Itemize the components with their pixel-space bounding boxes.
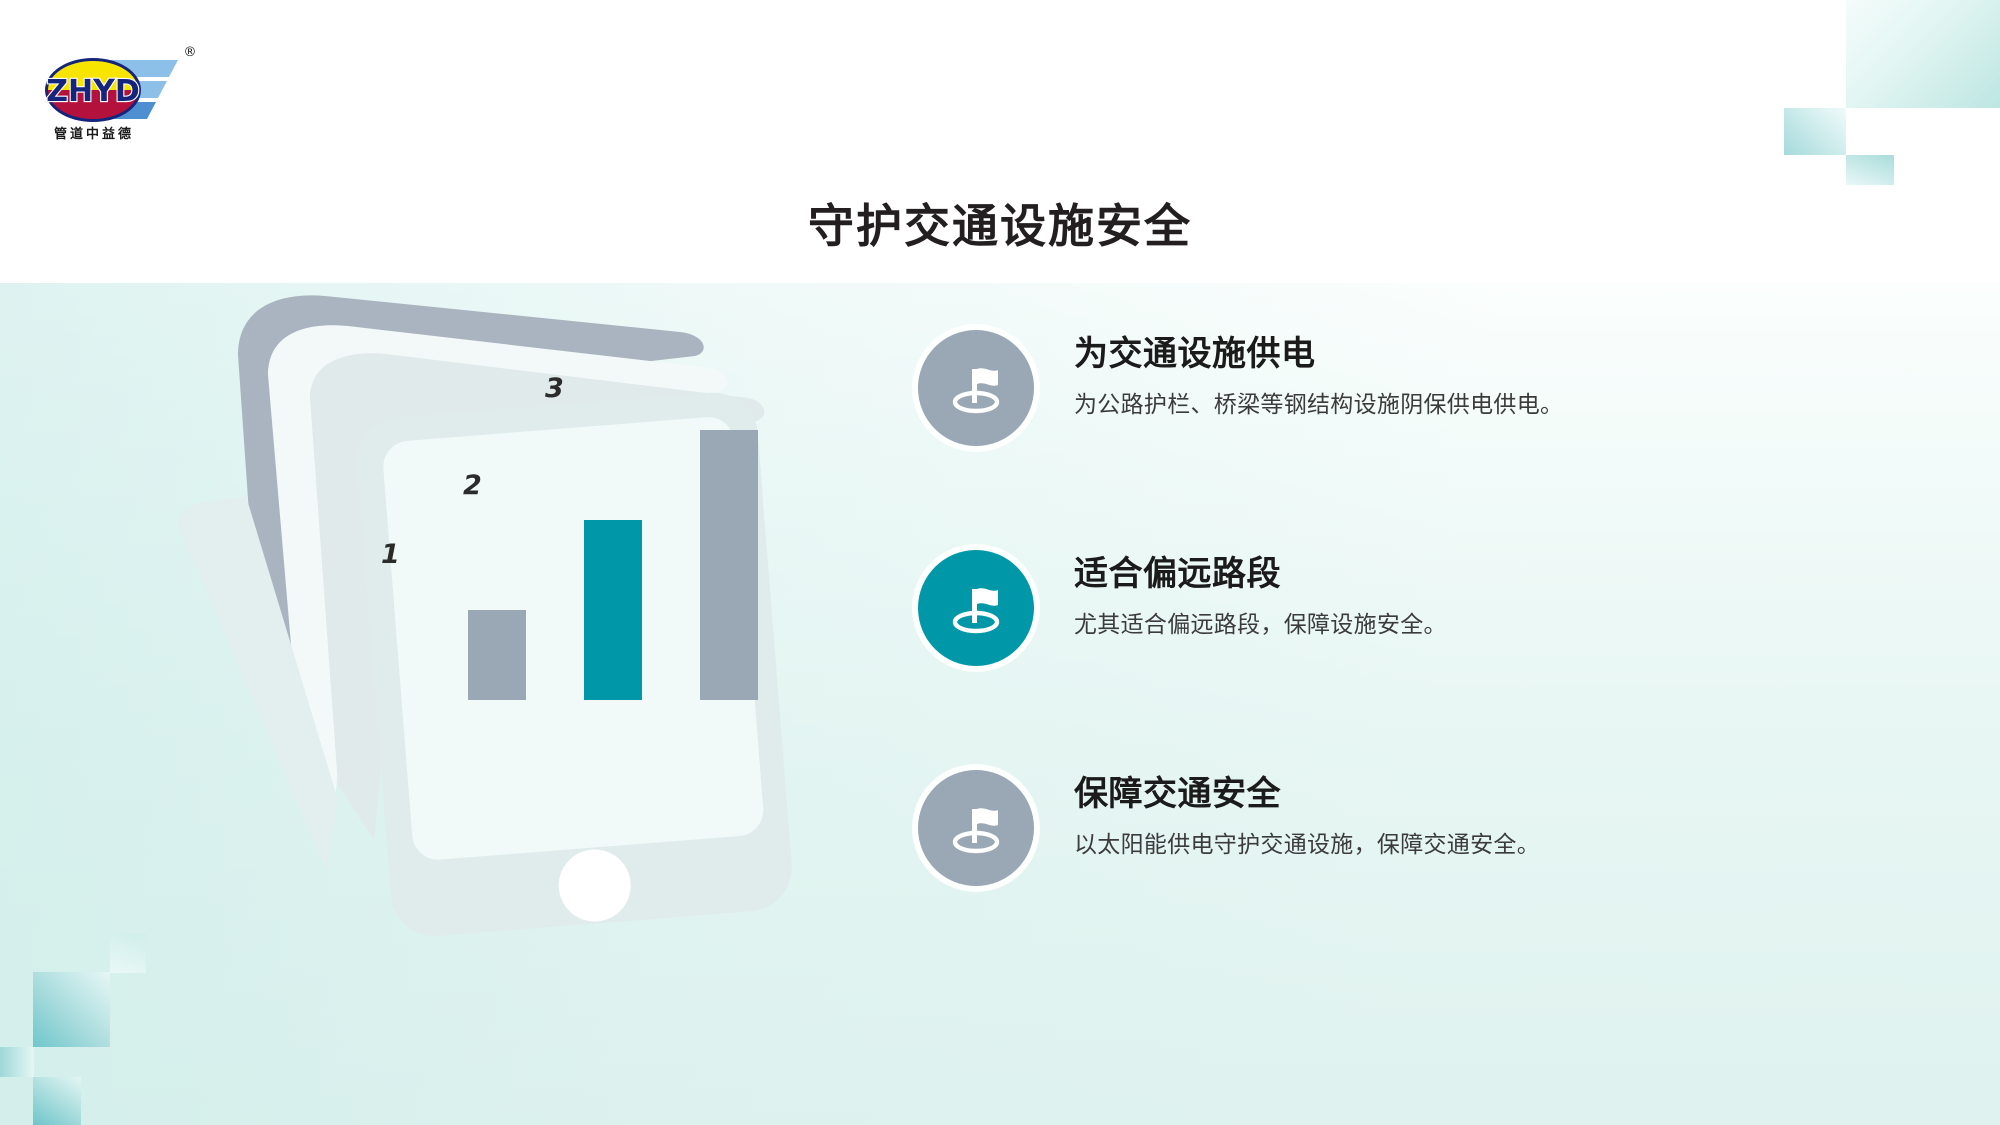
feature-title-1: 为交通设施供电	[1074, 334, 1563, 375]
decorative-square-top-right-1	[1846, 0, 2000, 108]
feature-desc-3: 以太阳能供电守护交通设施，保障交通安全。	[1074, 831, 1540, 861]
feature-desc-1: 为公路护栏、桥梁等钢结构设施阴保供电供电。	[1074, 391, 1563, 421]
feature-title-3: 保障交通安全	[1074, 774, 1540, 815]
golf-flag-icon-3	[918, 770, 1034, 886]
feature-desc-2: 尤其适合偏远路段，保障设施安全。	[1074, 611, 1447, 641]
decorative-square-bottom-left-2	[33, 972, 110, 1047]
page-title: 守护交通设施安全	[0, 190, 2000, 256]
bar-label-2: 2	[463, 470, 482, 501]
feature-text-3: 保障交通安全 以太阳能供电守护交通设施，保障交通安全。	[1034, 770, 1540, 861]
feature-title-2: 适合偏远路段	[1074, 554, 1447, 595]
feature-item-3[interactable]: 保障交通安全 以太阳能供电守护交通设施，保障交通安全。	[918, 770, 1918, 886]
golf-flag-icon-1	[918, 330, 1034, 446]
decorative-square-bottom-left-1	[110, 934, 146, 973]
feature-list: 为交通设施供电 为公路护栏、桥梁等钢结构设施阴保供电供电。 适合偏远路段 尤其适…	[918, 330, 1918, 886]
bar-label-1: 1	[381, 539, 400, 570]
company-logo: ZHYD ® 管道中益德	[38, 38, 203, 143]
logo-wordmark: ZHYD	[46, 74, 140, 109]
feature-item-2[interactable]: 适合偏远路段 尤其适合偏远路段，保障设施安全。	[918, 550, 1918, 666]
feature-text-1: 为交通设施供电 为公路护栏、桥梁等钢结构设施阴保供电供电。	[1034, 330, 1563, 421]
slide-canvas: ZHYD ® 管道中益德 守护交通设施安全	[0, 0, 2000, 1125]
registered-mark-icon: ®	[184, 45, 197, 60]
decorative-square-bottom-left-4	[33, 1077, 81, 1125]
feature-item-1[interactable]: 为交通设施供电 为公路护栏、桥梁等钢结构设施阴保供电供电。	[918, 330, 1918, 446]
decorative-square-top-right-2	[1784, 108, 1846, 155]
logo-chinese-name: 管道中益德	[54, 126, 134, 142]
bar-label-3: 3	[545, 373, 564, 404]
decorative-square-bottom-left-3	[0, 1047, 34, 1077]
decorative-square-top-right-3	[1846, 155, 1894, 185]
bar-1	[468, 610, 526, 700]
feature-text-2: 适合偏远路段 尤其适合偏远路段，保障设施安全。	[1034, 550, 1447, 641]
golf-flag-icon-2	[918, 550, 1034, 666]
tablet-bar-chart-illustration: 1 2 3	[150, 280, 810, 980]
bar-3	[700, 430, 758, 700]
bar-2	[584, 520, 642, 700]
